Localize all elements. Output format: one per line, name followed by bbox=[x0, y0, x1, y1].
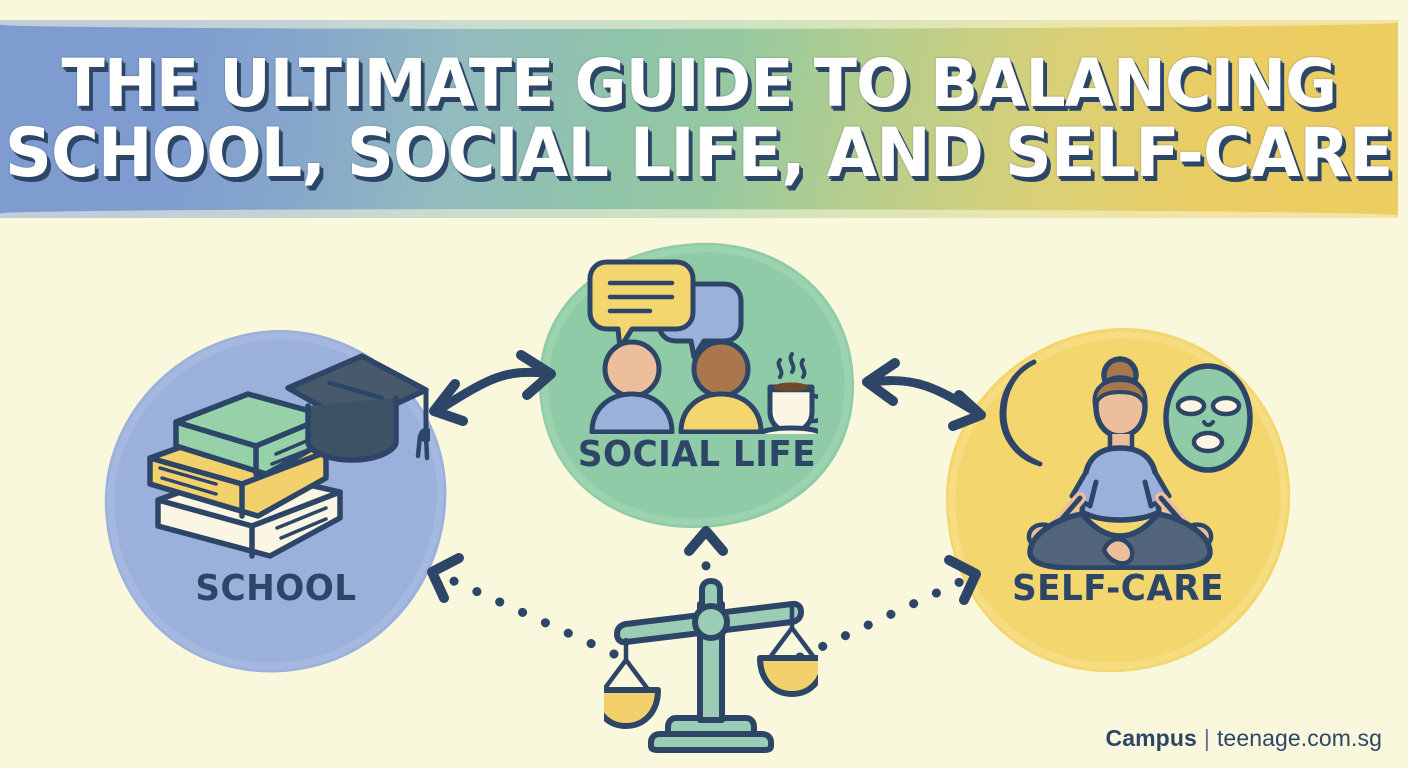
arrow-scale-school bbox=[432, 558, 614, 654]
graduation-cap-icon bbox=[288, 356, 430, 460]
footer-site: teenage.com.sg bbox=[1217, 725, 1382, 751]
node-social[interactable]: SOCIAL LIFE bbox=[534, 238, 860, 532]
footer-brand: Campus bbox=[1106, 725, 1197, 751]
node-school-label: SCHOOL bbox=[107, 568, 445, 609]
crescent-moon-icon bbox=[1002, 362, 1040, 464]
person-blue-icon bbox=[592, 342, 672, 432]
selfcare-art bbox=[986, 356, 1254, 570]
node-selfcare[interactable]: SELF-CARE bbox=[940, 322, 1296, 678]
node-social-label: SOCIAL LIFE bbox=[542, 434, 852, 475]
infographic-canvas: THE ULTIMATE GUIDE TO BALANCING SCHOOL, … bbox=[0, 0, 1408, 768]
balance-scale-icon bbox=[604, 542, 818, 754]
footer-credit: Campus|teenage.com.sg bbox=[1106, 725, 1382, 752]
title-banner bbox=[0, 20, 1398, 218]
face-mask-icon bbox=[1166, 366, 1250, 470]
social-art bbox=[584, 256, 818, 434]
footer-separator: | bbox=[1197, 725, 1217, 751]
node-school[interactable]: SCHOOL bbox=[98, 322, 454, 678]
school-art bbox=[130, 350, 430, 565]
coffee-cup-icon bbox=[761, 354, 818, 434]
node-selfcare-label: SELF-CARE bbox=[949, 568, 1287, 609]
